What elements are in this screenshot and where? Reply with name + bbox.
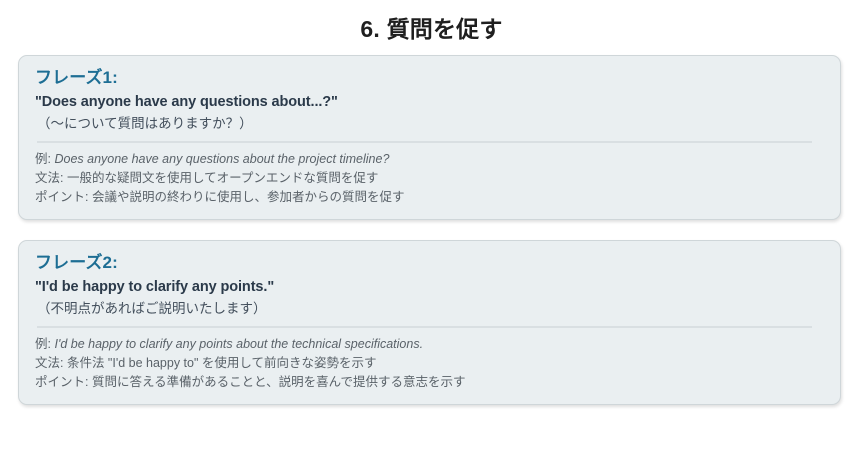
- point-line: ポイント: 会議や説明の終わりに使用し、参加者からの質問を促す: [35, 188, 824, 207]
- card-divider: [37, 141, 812, 143]
- point-line: ポイント: 質問に答える準備があることと、説明を喜んで提供する意志を示す: [35, 373, 824, 392]
- example-label: 例:: [35, 152, 51, 166]
- page-title: 6. 質問を促す: [0, 0, 863, 44]
- phrase-card: フレーズ1: "Does anyone have any questions a…: [18, 55, 841, 220]
- card-divider: [37, 326, 812, 328]
- example-line: 例: Does anyone have any questions about …: [35, 150, 824, 169]
- example-label: 例:: [35, 337, 51, 351]
- page-root: 6. 質問を促す フレーズ1: "Does anyone have any qu…: [0, 0, 863, 462]
- example-line: 例: I'd be happy to clarify any points ab…: [35, 335, 824, 354]
- phrase-card-list: フレーズ1: "Does anyone have any questions a…: [0, 55, 863, 405]
- phrase-english: "Does anyone have any questions about...…: [35, 92, 824, 113]
- phrase-japanese: （〜について質問はありますか？）: [37, 113, 824, 134]
- phrase-english: "I'd be happy to clarify any points.": [35, 277, 824, 298]
- phrase-card-label: フレーズ1:: [35, 66, 824, 90]
- phrase-japanese: （不明点があればご説明いたします）: [37, 298, 824, 319]
- phrase-card-label: フレーズ2:: [35, 251, 824, 275]
- example-text: Does anyone have any questions about the…: [54, 152, 389, 166]
- grammar-line: 文法: 条件法 "I'd be happy to" を使用して前向きな姿勢を示す: [35, 354, 824, 373]
- phrase-card: フレーズ2: "I'd be happy to clarify any poin…: [18, 240, 841, 405]
- grammar-line: 文法: 一般的な疑問文を使用してオープンエンドな質問を促す: [35, 169, 824, 188]
- example-text: I'd be happy to clarify any points about…: [54, 337, 423, 351]
